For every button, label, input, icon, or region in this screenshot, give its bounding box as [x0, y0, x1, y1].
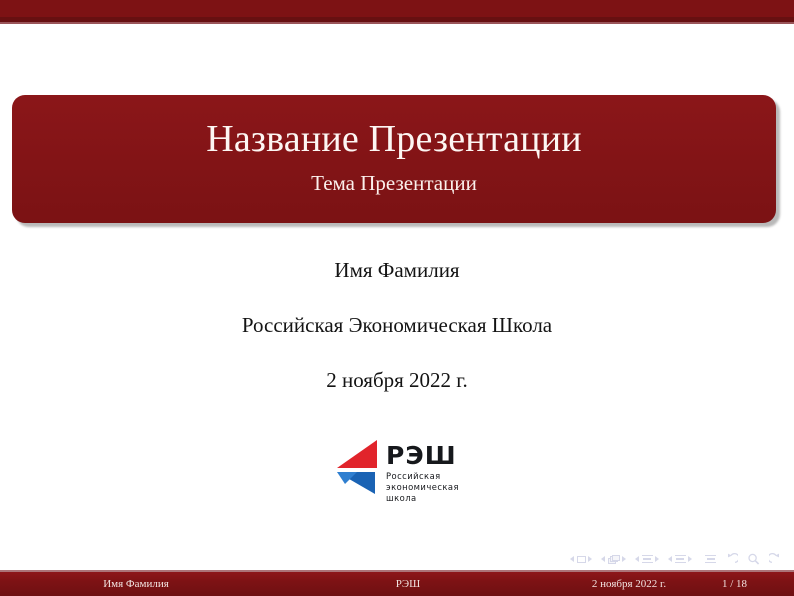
author-name: Имя Фамилия — [0, 258, 794, 283]
title-meta-block: Имя Фамилия Российская Экономическая Шко… — [0, 258, 794, 394]
presentation-subtitle: Тема Презентации — [311, 172, 477, 195]
subsection-previous-icon[interactable] — [635, 556, 639, 562]
footline-date: 2 ноября 2022 г. — [544, 572, 714, 596]
institute-logo: РЭШ Российская экономическая школа — [0, 438, 794, 504]
logo-line-2: экономическая — [386, 482, 459, 493]
footline-page-number: 1 / 18 — [714, 572, 794, 596]
document-icon[interactable] — [705, 555, 716, 564]
presentation-title-slide: Название Презентации Тема Презентации Им… — [0, 0, 794, 596]
presentation-title: Название Презентации — [206, 119, 582, 161]
frame-icon[interactable] — [608, 555, 620, 564]
frame-next-icon[interactable] — [622, 556, 626, 562]
frame-previous-icon[interactable] — [601, 556, 605, 562]
subsection-icon[interactable] — [642, 555, 653, 564]
logo-abbreviation: РЭШ — [386, 444, 459, 469]
slide-next-icon[interactable] — [588, 556, 592, 562]
search-icon[interactable] — [747, 553, 760, 565]
title-block: Название Презентации Тема Презентации — [12, 95, 776, 223]
footline-author: Имя Фамилия — [0, 572, 272, 596]
section-icon[interactable] — [675, 555, 686, 564]
slide-icon[interactable] — [577, 556, 586, 563]
slide-previous-icon[interactable] — [570, 556, 574, 562]
section-next-icon[interactable] — [688, 556, 692, 562]
footline-institute: РЭШ — [272, 572, 544, 596]
institute-name: Российская Экономическая Школа — [0, 313, 794, 338]
beamer-navigation-symbols[interactable] — [570, 553, 782, 565]
subsection-navigation-group[interactable] — [635, 555, 659, 564]
presentation-date: 2 ноября 2022 г. — [0, 368, 794, 393]
logo-line-1: Российская — [386, 471, 459, 482]
section-navigation-group[interactable] — [668, 555, 692, 564]
footline: Имя Фамилия РЭШ 2 ноября 2022 г. 1 / 18 — [0, 572, 794, 596]
logo-line-3: школа — [386, 493, 459, 504]
slide-navigation-group[interactable] — [570, 556, 592, 563]
go-back-icon[interactable] — [725, 553, 738, 565]
subsection-next-icon[interactable] — [655, 556, 659, 562]
top-decoration-bar — [0, 0, 794, 22]
nes-logo-mark-icon — [335, 438, 379, 496]
go-forward-icon[interactable] — [769, 553, 782, 565]
section-previous-icon[interactable] — [668, 556, 672, 562]
top-bar-hairline — [0, 22, 794, 24]
frame-navigation-group[interactable] — [601, 555, 626, 564]
